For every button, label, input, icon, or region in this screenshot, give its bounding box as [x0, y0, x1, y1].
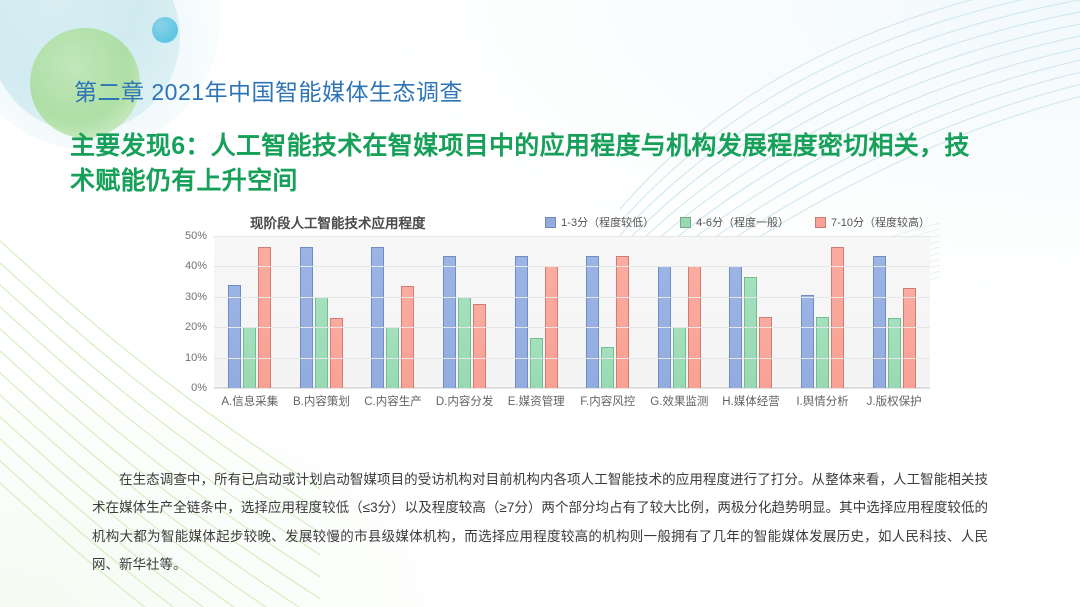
bar[interactable]: [515, 256, 528, 388]
bar-group: [500, 236, 572, 388]
page-title: 主要发现6：人工智能技术在智媒项目中的应用程度与机构发展程度密切相关，技术赋能仍…: [70, 129, 970, 198]
y-axis-tick-label: 40%: [185, 260, 207, 272]
bar[interactable]: [903, 288, 916, 388]
legend-item[interactable]: 7-10分（程度较高）: [815, 214, 930, 230]
x-axis-category-label: E.媒资管理: [500, 393, 572, 409]
bar-group: [858, 236, 930, 388]
bar-groups: [214, 236, 930, 388]
chapter-title: 第二章 2021年中国智能媒体生态调查: [74, 73, 463, 107]
chart-plot-area: 50%40%30%20%10%0%: [214, 236, 930, 388]
y-axis-tick-label: 50%: [185, 230, 207, 242]
legend-label: 4-6分（程度一般）: [696, 214, 789, 230]
bar[interactable]: [401, 286, 414, 388]
legend-item[interactable]: 4-6分（程度一般）: [680, 214, 789, 230]
x-axis-category-label: D.内容分发: [429, 393, 501, 409]
decorative-swirl-top-right: [620, 0, 1080, 244]
gridline: [214, 297, 930, 298]
bar-group: [286, 236, 358, 388]
bar[interactable]: [458, 297, 471, 388]
bar[interactable]: [315, 297, 328, 388]
legend-swatch-icon: [815, 217, 826, 228]
gridline: [214, 358, 930, 359]
bar[interactable]: [258, 247, 271, 388]
legend-label: 1-3分（程度较低）: [561, 214, 654, 230]
x-axis-category-label: I.舆情分析: [787, 393, 859, 409]
chart-title: 现阶段人工智能技术应用程度: [250, 212, 426, 232]
bar[interactable]: [801, 295, 814, 388]
bar[interactable]: [744, 277, 757, 388]
chart-container: 现阶段人工智能技术应用程度 1-3分（程度较低）4-6分（程度一般）7-10分（…: [168, 212, 930, 417]
bar[interactable]: [586, 256, 599, 388]
gridline: [214, 236, 930, 237]
legend-item[interactable]: 1-3分（程度较低）: [545, 214, 654, 230]
bar[interactable]: [228, 285, 241, 388]
bar[interactable]: [888, 318, 901, 388]
bar[interactable]: [330, 318, 343, 388]
slide-canvas: 第二章 2021年中国智能媒体生态调查 主要发现6：人工智能技术在智媒项目中的应…: [0, 0, 1080, 607]
legend-label: 7-10分（程度较高）: [831, 214, 930, 230]
y-axis-tick-label: 10%: [185, 352, 207, 364]
y-axis-tick-label: 20%: [185, 321, 207, 333]
x-axis-category-label: C.内容生产: [357, 393, 429, 409]
bar[interactable]: [300, 247, 313, 388]
y-axis-tick-label: 0%: [191, 382, 207, 394]
x-axis-category-label: A.信息采集: [214, 393, 286, 409]
bar[interactable]: [530, 338, 543, 388]
x-axis-category-label: J.版权保护: [858, 393, 930, 409]
bar[interactable]: [616, 256, 629, 388]
x-axis-category-label: F.内容风控: [572, 393, 644, 409]
bar-group: [357, 236, 429, 388]
bar-group: [644, 236, 716, 388]
bar[interactable]: [443, 256, 456, 388]
chart-legend: 1-3分（程度较低）4-6分（程度一般）7-10分（程度较高）: [545, 214, 930, 230]
bar[interactable]: [371, 247, 384, 388]
x-axis-labels: A.信息采集B.内容策划C.内容生产D.内容分发E.媒资管理F.内容风控G.效果…: [214, 393, 930, 409]
bar[interactable]: [831, 247, 844, 388]
gridline: [214, 266, 930, 267]
decorative-blue-dot: [152, 17, 178, 43]
bar[interactable]: [473, 304, 486, 388]
x-axis-category-label: G.效果监测: [644, 393, 716, 409]
x-axis-category-label: H.媒体经营: [715, 393, 787, 409]
body-paragraph: 在生态调查中，所有已启动或计划启动智媒项目的受访机构对目前机构内各项人工智能技术…: [92, 466, 988, 580]
bar-group: [214, 236, 286, 388]
bar-group: [715, 236, 787, 388]
legend-swatch-icon: [680, 217, 691, 228]
bar-group: [572, 236, 644, 388]
gridline: [214, 327, 930, 328]
bar[interactable]: [601, 347, 614, 388]
bar[interactable]: [873, 256, 886, 388]
legend-swatch-icon: [545, 217, 556, 228]
bar-group: [787, 236, 859, 388]
gridline: [214, 388, 930, 389]
bar-group: [429, 236, 501, 388]
y-axis-tick-label: 30%: [185, 291, 207, 303]
x-axis-category-label: B.内容策划: [286, 393, 358, 409]
